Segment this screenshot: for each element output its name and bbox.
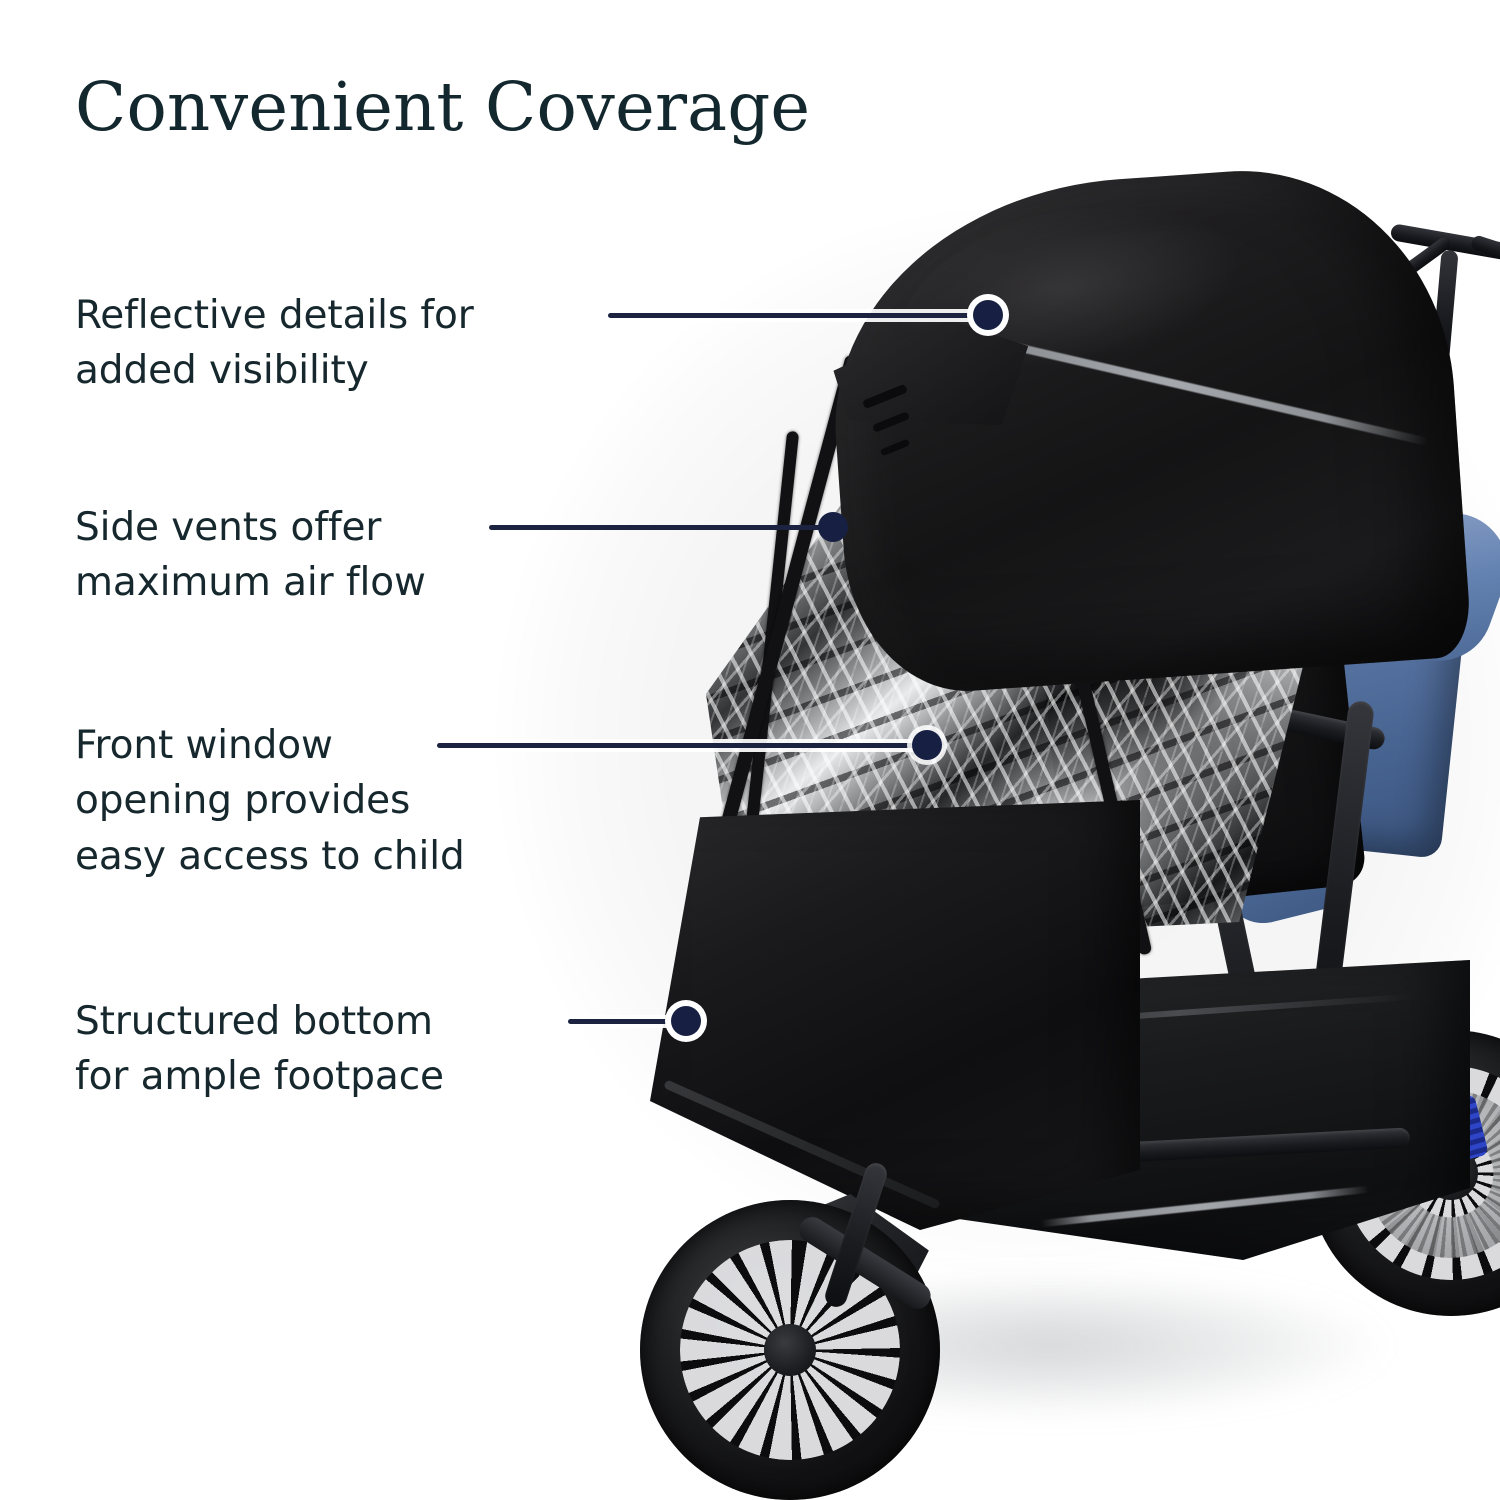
infographic-canvas: WARNING ADVERTENCIA MISE EN GARDE [0, 0, 1500, 1500]
callout-marker-dot-side-vents [818, 512, 848, 542]
callout-line: for ample footpace [75, 1049, 444, 1104]
callout-label-side-vents: Side vents offer maximum air flow [75, 500, 426, 611]
callout-line: Front window [75, 718, 465, 773]
callout-label-reflective-details: Reflective details for added visibility [75, 288, 474, 399]
front-wheel [640, 1200, 940, 1500]
callout-leader-line-side-vents [489, 525, 829, 530]
callout-leader-line-reflective-details [608, 313, 988, 318]
callout-marker-dot-front-window [912, 730, 942, 760]
callout-line: maximum air flow [75, 555, 426, 610]
callout-marker-dot-structured-bottom [671, 1006, 701, 1036]
callout-line: Side vents offer [75, 500, 426, 555]
wheel-hub [764, 1324, 816, 1376]
callout-label-front-window: Front window opening provides easy acces… [75, 718, 465, 884]
callout-leader-line-structured-bottom [568, 1019, 686, 1024]
callout-marker-dot-reflective-details [973, 300, 1003, 330]
callout-line: easy access to child [75, 829, 465, 884]
callout-line: Structured bottom [75, 994, 444, 1049]
page-title: Convenient Coverage [75, 72, 810, 143]
callout-leader-line-front-window [437, 743, 926, 748]
fabric-folds [648, 812, 1108, 1212]
callout-line: opening provides [75, 773, 465, 828]
callout-line: added visibility [75, 343, 474, 398]
callout-line: Reflective details for [75, 288, 474, 343]
callout-label-structured-bottom: Structured bottom for ample footpace [75, 994, 444, 1105]
